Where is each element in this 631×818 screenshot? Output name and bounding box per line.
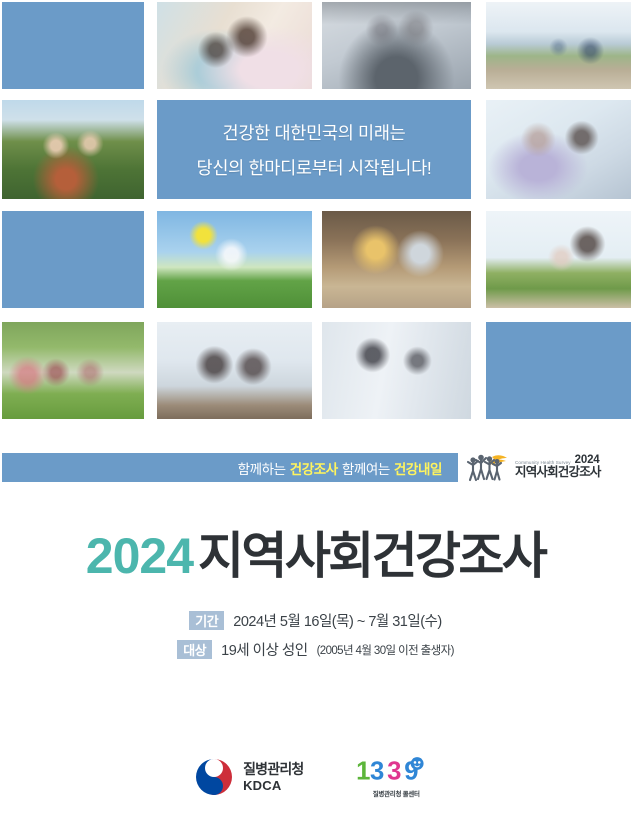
community-people-icon: [466, 452, 510, 482]
kdca-english: KDCA: [243, 778, 303, 793]
photo-brushing-teeth: [157, 2, 312, 89]
photo-farm-couple: [2, 100, 144, 199]
photo-parent-lifting-child: [486, 211, 631, 308]
photo-tile-r3c2: [157, 211, 312, 308]
call-center-caption: 질병관리청 콜센터: [373, 788, 420, 798]
page-title: 2024지역사회건강조사: [0, 516, 631, 588]
target-note: (2005년 4월 30일 이전 출생자): [317, 642, 454, 658]
svg-text:1: 1: [357, 758, 371, 786]
banner-segment-3: 함께여는: [342, 458, 390, 478]
photo-tile-r1c4: [486, 2, 631, 89]
community-health-survey-logo: Community Health Survey 2024 지역사회건강조사: [466, 449, 626, 485]
target-value: 19세 이상 성인: [221, 639, 307, 660]
photo-classroom-students: [157, 322, 312, 419]
banner-segment-1: 함께하는: [238, 458, 286, 478]
slogan-line-1: 건강한 대한민국의 미래는: [223, 120, 406, 145]
photo-riverside-cycling: [486, 2, 631, 89]
photo-senior-gardening: [322, 211, 471, 308]
photo-tile-r3c1: [2, 211, 144, 308]
photo-tile-r2c4: [486, 100, 631, 199]
info-block: 기간 2024년 5월 16일(목) ~ 7월 31일(수) 대상 19세 이상…: [0, 610, 631, 660]
badge-period: 기간: [189, 611, 224, 630]
photo-tile-r3c3: [322, 211, 471, 308]
photo-tile-r3c4: [486, 211, 631, 308]
chs-logo-text: Community Health Survey 2024 지역사회건강조사: [515, 454, 601, 479]
photo-tile-r4c1: [2, 322, 144, 419]
banner-segment-2: 건강조사: [290, 458, 338, 478]
photo-blood-pressure-check: [486, 100, 631, 199]
photo-office-briefing: [322, 322, 471, 419]
kdca-korean: 질병관리청: [243, 761, 303, 778]
chs-korean-label: 지역사회건강조사: [515, 466, 601, 479]
banner-row: 함께하는 건강조사 함께여는 건강내일: [0, 453, 631, 483]
call-center-logo: 1 3 3 9 질병관리청 콜센터: [355, 756, 436, 798]
photo-tile-r4c3: [322, 322, 471, 419]
photo-gym-seniors: [322, 2, 471, 89]
svg-text:3: 3: [370, 758, 384, 786]
badge-target: 대상: [177, 640, 212, 659]
photo-students-on-grass: [2, 322, 144, 419]
call-center-digits-icon: 1 3 3 9: [355, 756, 436, 786]
info-row-period: 기간 2024년 5월 16일(목) ~ 7월 31일(수): [189, 610, 441, 631]
photo-tile-r4c4: [486, 322, 631, 419]
poster-root: 건강한 대한민국의 미래는 당신의 한마디로부터 시작됩니다!: [0, 0, 631, 818]
footer-logos: 질병관리청 KDCA 1 3 3 9 질병관리청 콜센터: [0, 756, 631, 798]
photo-tile-r1c3: [322, 2, 471, 89]
taegeuk-mark-icon: [194, 757, 234, 797]
slogan-banner: 함께하는 건강조사 함께여는 건강내일: [2, 453, 458, 482]
photo-grid: 건강한 대한민국의 미래는 당신의 한마디로부터 시작됩니다!: [2, 2, 631, 426]
kdca-logo: 질병관리청 KDCA: [194, 757, 303, 797]
photo-tile-r1c2: [157, 2, 312, 89]
info-row-target: 대상 19세 이상 성인(2005년 4월 30일 이전 출생자): [177, 639, 454, 660]
photo-tile-r1c1: [2, 2, 144, 89]
photo-tile-r2c1: [2, 100, 144, 199]
svg-text:3: 3: [388, 758, 402, 786]
photo-children-kite: [157, 211, 312, 308]
title-name: 지역사회건강조사: [198, 528, 545, 584]
slogan-panel: 건강한 대한민국의 미래는 당신의 한마디로부터 시작됩니다!: [157, 100, 471, 199]
title-year: 2024: [86, 528, 193, 584]
slogan-line-2: 당신의 한마디로부터 시작됩니다!: [197, 155, 432, 180]
period-value: 2024년 5월 16일(목) ~ 7월 31일(수): [233, 610, 441, 631]
banner-segment-4: 건강내일: [394, 458, 442, 478]
kdca-logo-text: 질병관리청 KDCA: [243, 761, 303, 793]
photo-tile-r4c2: [157, 322, 312, 419]
